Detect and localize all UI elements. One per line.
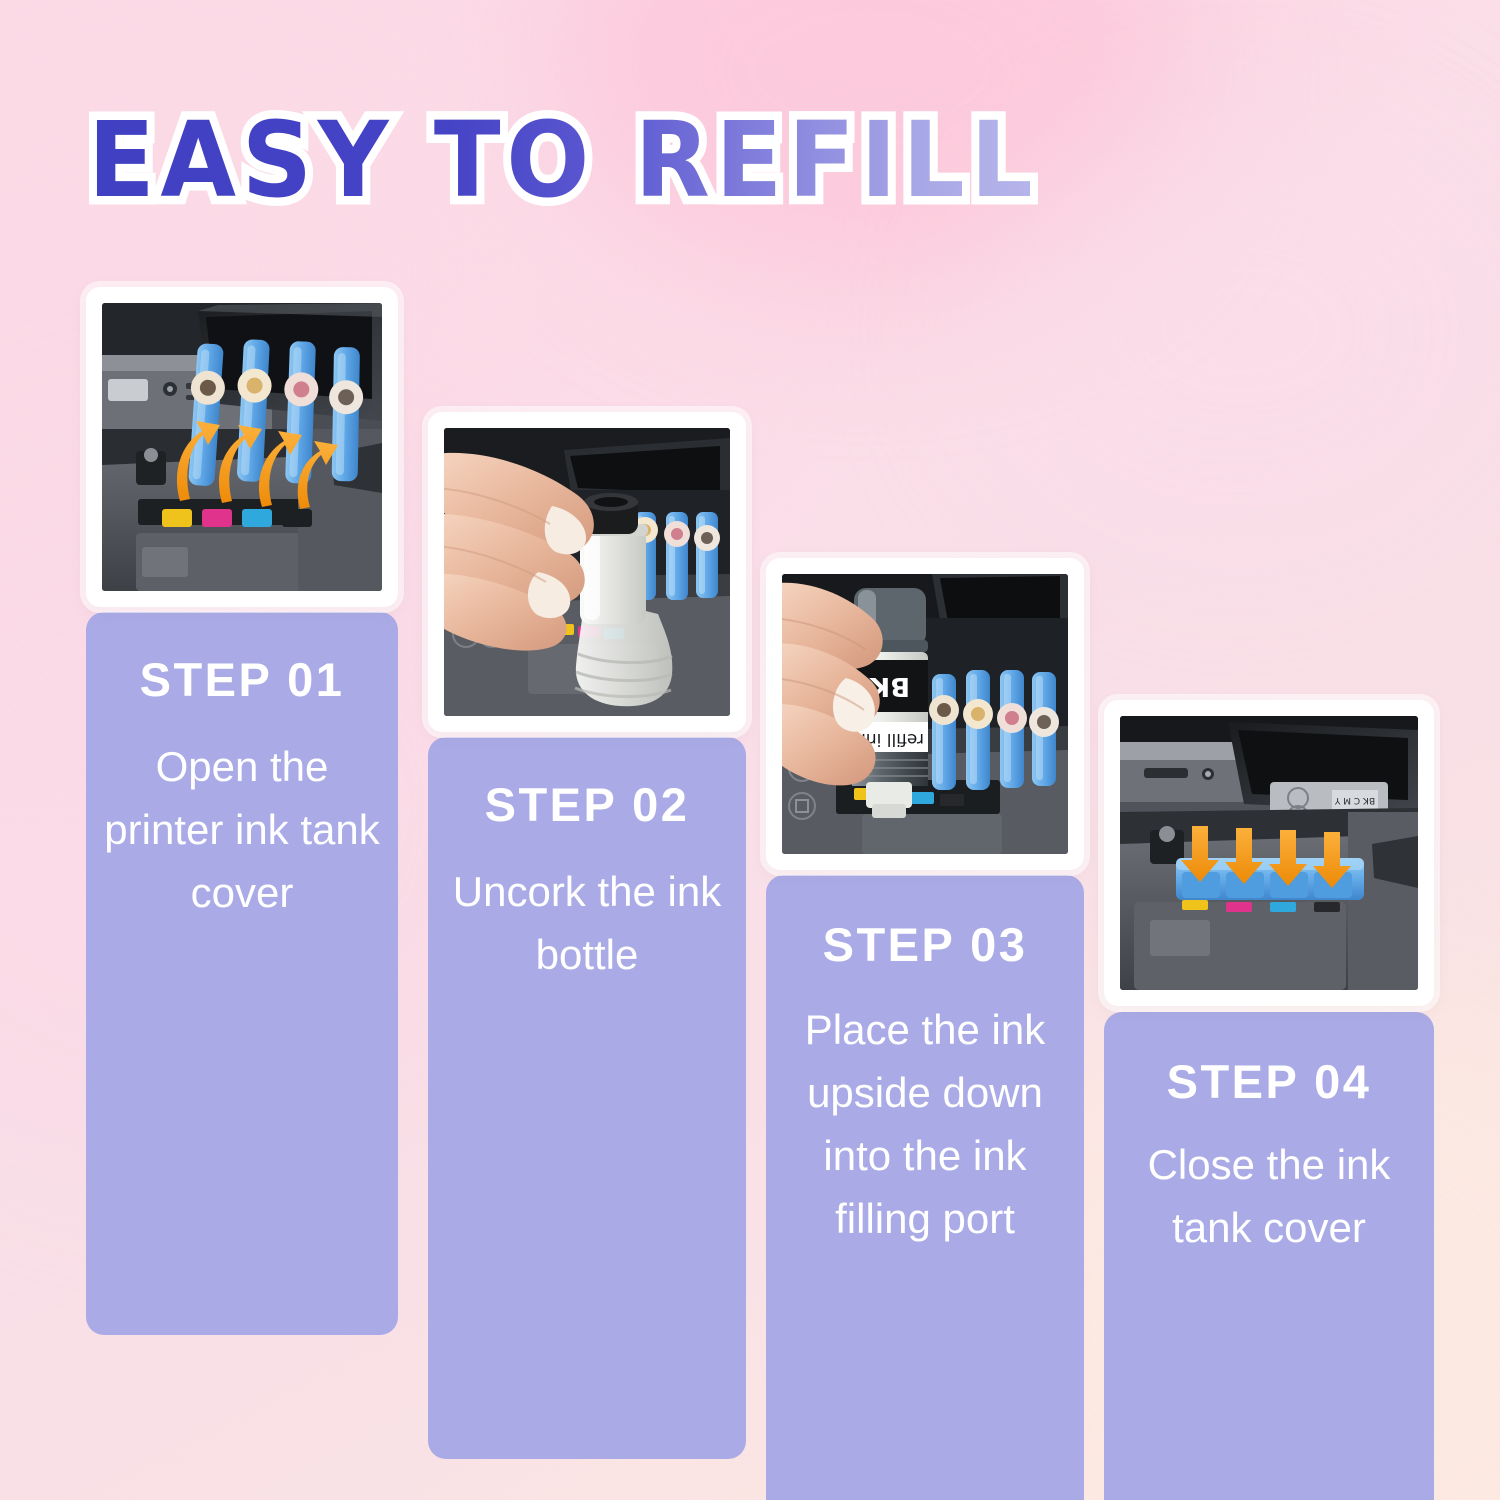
step-description-1: Open the printer ink tank cover	[86, 735, 398, 924]
step-description-3: Place the ink upside down into the ink f…	[766, 998, 1084, 1250]
step-label-1: STEP 01	[86, 656, 398, 703]
step-photo-frame-2	[428, 412, 746, 732]
lid-sticker-text: BK C M Y	[1334, 795, 1375, 805]
close-ink-tank-cover-photo: BK C M Y	[1120, 716, 1418, 990]
step-panel-2: STEP 02 Uncork the ink bottle	[428, 737, 746, 1459]
step-label-2: STEP 02	[428, 781, 746, 828]
printer-ink-tank-cover-open-photo	[102, 303, 382, 591]
step-description-4: Close the ink tank cover	[1104, 1133, 1434, 1259]
page-title: EASY TO REFILL EASY TO REFILL	[88, 108, 1099, 212]
step-label-4: STEP 04	[1104, 1058, 1434, 1105]
step-photo-frame-3: BK refill ink	[766, 558, 1084, 870]
step-panel-1: STEP 01 Open the printer ink tank cover	[86, 612, 398, 1335]
step-photo-frame-1	[86, 287, 398, 607]
step-panel-4: STEP 04 Close the ink tank cover	[1104, 1012, 1434, 1500]
step-label-3: STEP 03	[766, 921, 1084, 968]
page-title-fill: EASY TO REFILL	[88, 99, 1038, 221]
uncork-ink-bottle-photo	[444, 428, 730, 716]
ink-bottle-upside-down-photo: BK refill ink	[782, 574, 1068, 854]
step-panel-3: STEP 03 Place the ink upside down into t…	[766, 875, 1084, 1500]
step-photo-frame-4: BK C M Y	[1104, 700, 1434, 1006]
step-description-2: Uncork the ink bottle	[428, 860, 746, 986]
